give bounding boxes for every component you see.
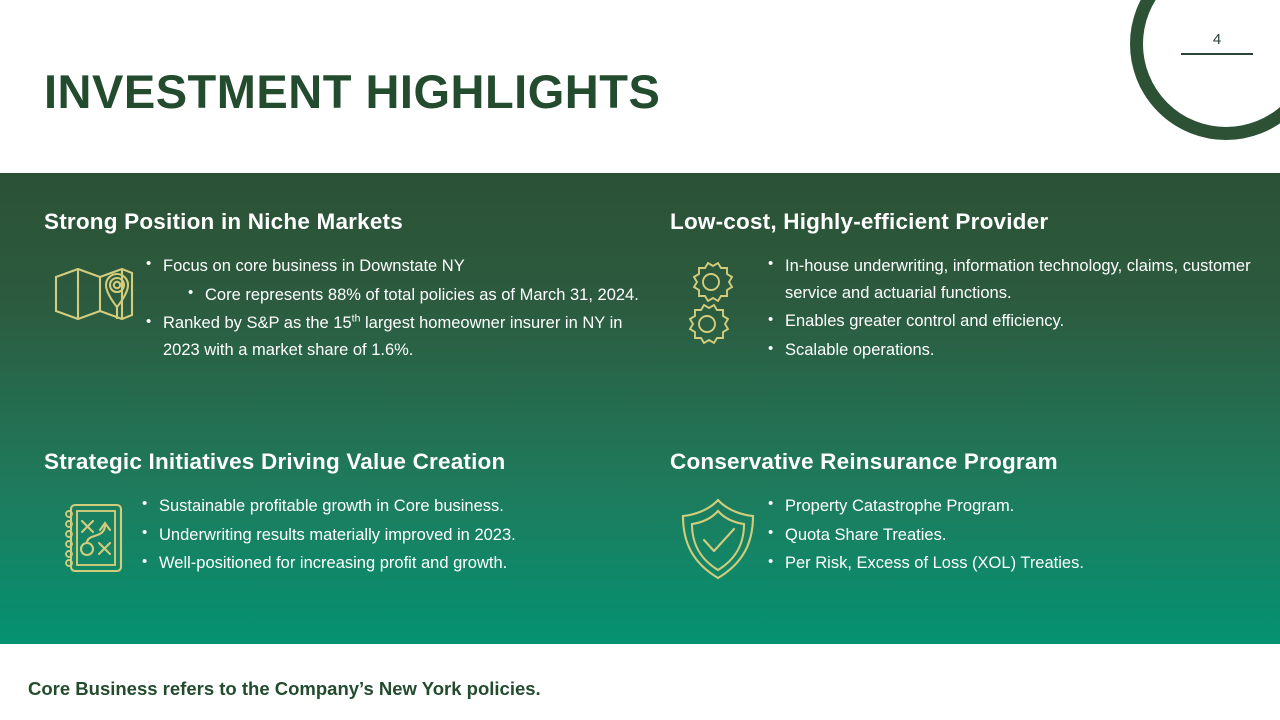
block-strategic-initiatives: Strategic Initiatives Driving Value Crea…	[44, 449, 654, 579]
list-item: Underwriting results materially improved…	[140, 522, 654, 549]
content-band: Strong Position in Niche Markets Focus o…	[0, 173, 1280, 644]
list-item-sub: Core represents 88% of total policies as…	[186, 282, 654, 309]
list-item: Property Catastrophe Program.	[766, 493, 1270, 520]
list-item: Focus on core business in Downstate NY	[144, 253, 654, 280]
map-pin-icon	[44, 253, 144, 331]
list-item: Sustainable profitable growth in Core bu…	[140, 493, 654, 520]
list-item: Quota Share Treaties.	[766, 522, 1270, 549]
block-title: Strong Position in Niche Markets	[44, 209, 654, 235]
page-number-group: 4	[1181, 32, 1253, 55]
block-conservative-reinsurance: Conservative Reinsurance Program Propert…	[670, 449, 1270, 583]
bullet-list: Property Catastrophe Program. Quota Shar…	[766, 493, 1270, 579]
block-low-cost-provider: Low-cost, Highly-efficient Provider	[670, 209, 1270, 366]
list-item-text-before: Ranked by S&P as the 15	[163, 314, 352, 332]
shield-check-icon	[670, 493, 766, 583]
playbook-icon	[44, 493, 140, 577]
list-item: Well-positioned for increasing profit an…	[140, 550, 654, 577]
block-title: Low-cost, Highly-efficient Provider	[670, 209, 1270, 235]
page-number: 4	[1181, 32, 1253, 53]
page-title: INVESTMENT HIGHLIGHTS	[44, 68, 660, 115]
block-strong-position: Strong Position in Niche Markets Focus o…	[44, 209, 654, 366]
footnote: Core Business refers to the Company’s Ne…	[28, 678, 541, 700]
slide-header: INVESTMENT HIGHLIGHTS 4	[0, 0, 1280, 173]
slide-footer: Core Business refers to the Company’s Ne…	[0, 644, 1280, 720]
list-item: Enables greater control and efficiency.	[766, 308, 1270, 335]
ring-decoration	[1130, 0, 1280, 140]
page-number-rule	[1181, 53, 1253, 55]
block-title: Strategic Initiatives Driving Value Crea…	[44, 449, 654, 475]
bullet-list: Focus on core business in Downstate NY C…	[144, 253, 654, 366]
content-grid: Strong Position in Niche Markets Focus o…	[0, 173, 1280, 644]
list-item: Ranked by S&P as the 15th largest homeow…	[144, 310, 654, 363]
gears-icon	[670, 253, 766, 349]
list-item: In-house underwriting, information techn…	[766, 253, 1270, 306]
list-item: Per Risk, Excess of Loss (XOL) Treaties.	[766, 550, 1270, 577]
bullet-list: In-house underwriting, information techn…	[766, 253, 1270, 366]
list-item: Scalable operations.	[766, 337, 1270, 364]
bullet-list: Sustainable profitable growth in Core bu…	[140, 493, 654, 579]
block-title: Conservative Reinsurance Program	[670, 449, 1270, 475]
